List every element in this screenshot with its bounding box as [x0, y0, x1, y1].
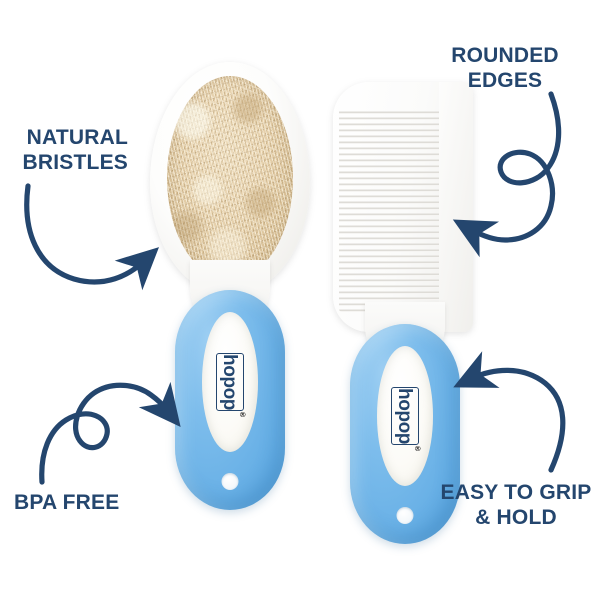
comb-logo-badge: hopop ®: [391, 387, 419, 445]
brush-handle-hang-hole: [222, 473, 239, 490]
product-comb: hopop ®: [325, 62, 485, 512]
brush-logo-trademark-icon: ®: [238, 412, 245, 417]
arrow-bpa-free: [42, 385, 167, 482]
comb-handle-hang-hole: [397, 507, 414, 524]
brush-handle: hopop ®: [175, 290, 285, 510]
callout-label-bpa-free: BPA FREE: [14, 491, 146, 516]
callout-label-rounded-edges: ROUNDED EDGES: [432, 44, 578, 94]
callout-label-natural-bristles: NATURAL BRISTLES: [6, 126, 128, 176]
brush-logo-badge: hopop ®: [216, 353, 244, 411]
comb-head: [333, 82, 473, 332]
product-brush: hopop ®: [150, 62, 310, 512]
comb-logo-trademark-icon: ®: [413, 446, 420, 451]
brush-handle-inset: hopop ®: [202, 312, 258, 452]
brush-logo-text: hopop: [221, 354, 240, 410]
callout-label-easy-to-grip-hold: EASY TO GRIP & HOLD: [438, 481, 594, 531]
comb-logo-text: hopop: [396, 388, 415, 444]
arrow-easy-to-grip: [473, 370, 563, 470]
brush-bristles: [167, 76, 293, 280]
infographic-canvas: hopop ® hopop ®: [0, 0, 600, 600]
comb-handle-inset: hopop ®: [377, 346, 433, 486]
comb-teeth: [339, 108, 447, 312]
arrow-natural-bristles: [27, 186, 143, 282]
comb-spine: [439, 82, 473, 332]
